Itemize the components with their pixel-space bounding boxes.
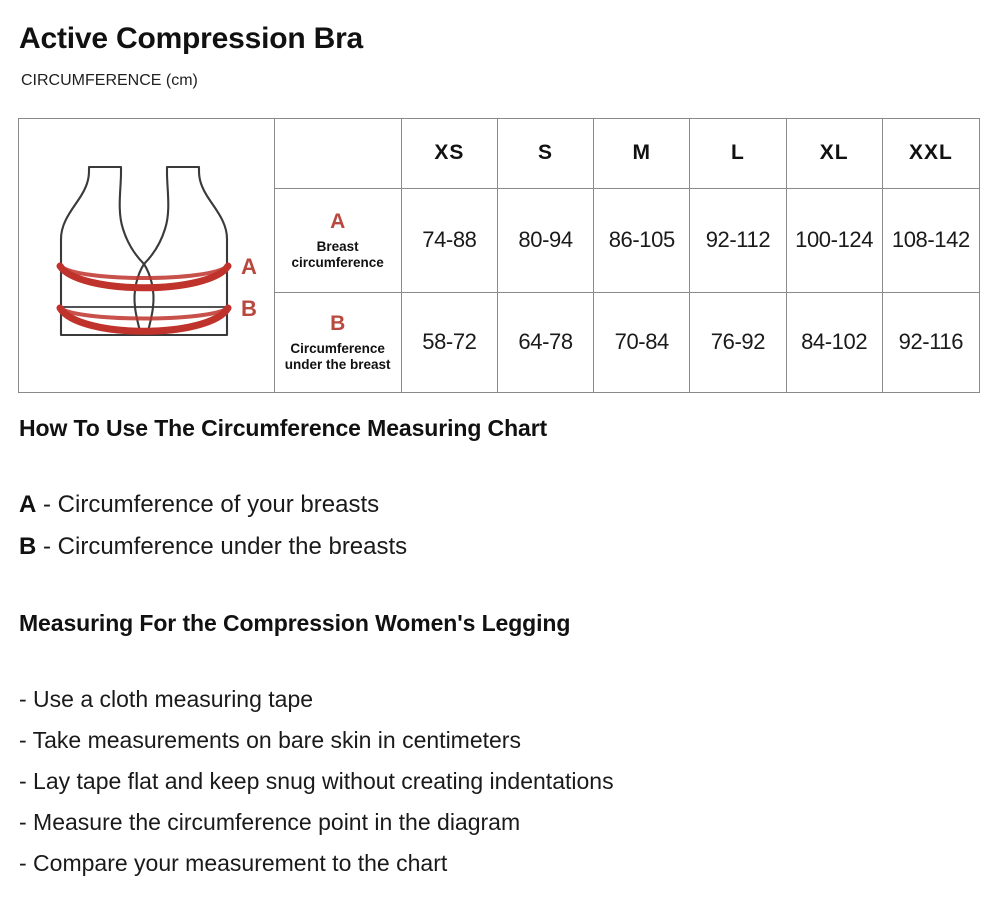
sports-bra-measurement-diagram: A B [19,119,274,387]
measuring-tips-list: - Use a cloth measuring tape - Take meas… [19,679,614,884]
page-title: Active Compression Bra [19,22,363,56]
definition-text-b: - Circumference under the breasts [36,533,407,560]
definition-item-a: A - Circumference of your breasts [19,484,407,526]
size-header-xl: XL [786,119,882,189]
tip-item-3: - Lay tape flat and keep snug without cr… [19,761,614,802]
cell-b-s: 64-78 [497,292,593,392]
bra-outline [61,167,227,335]
row-label-a: A Breast circumference [274,188,401,292]
measuring-heading: Measuring For the Compression Women's Le… [19,610,570,637]
tip-item-2: - Take measurements on bare skin in cent… [19,720,614,761]
row-caption-b-line1: Circumference [275,341,401,357]
row-letter-a: A [275,209,401,235]
size-chart-page: Active Compression Bra CIRCUMFERENCE (cm… [0,0,1000,900]
size-header-s: S [497,119,593,189]
definition-text-a: - Circumference of your breasts [36,491,379,518]
row-caption-b-line2: under the breast [275,357,401,373]
row-caption-a-line1: Breast [275,239,401,255]
tip-item-5: - Compare your measurement to the chart [19,843,614,884]
tip-item-1: - Use a cloth measuring tape [19,679,614,720]
size-header-m: M [594,119,690,189]
diagram-label-a: A [241,254,257,279]
row-caption-a-line2: circumference [275,255,401,271]
cell-a-xl: 100-124 [786,188,882,292]
cell-b-xl: 84-102 [786,292,882,392]
cell-b-m: 70-84 [594,292,690,392]
cell-a-xxl: 108-142 [882,188,979,292]
table-corner-header [274,119,401,189]
cell-a-s: 80-94 [497,188,593,292]
definition-list: A - Circumference of your breasts B - Ci… [19,484,407,568]
cell-b-xxl: 92-116 [882,292,979,392]
size-header-xxl: XXL [882,119,979,189]
table-header-row: A B XS S M L XL XXL [19,119,980,189]
bra-diagram-cell: A B [19,119,275,393]
cell-a-m: 86-105 [594,188,690,292]
definition-key-b: B [19,533,36,560]
size-chart-table: A B XS S M L XL XXL A Breast circumferen… [18,118,980,393]
diagram-label-b: B [241,296,257,321]
size-header-xs: XS [401,119,497,189]
how-to-heading: How To Use The Circumference Measuring C… [19,415,547,442]
row-letter-b: B [275,311,401,337]
row-label-b: B Circumference under the breast [274,292,401,392]
cell-a-l: 92-112 [690,188,786,292]
definition-key-a: A [19,491,36,518]
page-subtitle: CIRCUMFERENCE (cm) [21,72,198,90]
size-header-l: L [690,119,786,189]
definition-item-b: B - Circumference under the breasts [19,526,407,568]
cell-b-l: 76-92 [690,292,786,392]
cell-b-xs: 58-72 [401,292,497,392]
tip-item-4: - Measure the circumference point in the… [19,802,614,843]
cell-a-xs: 74-88 [401,188,497,292]
